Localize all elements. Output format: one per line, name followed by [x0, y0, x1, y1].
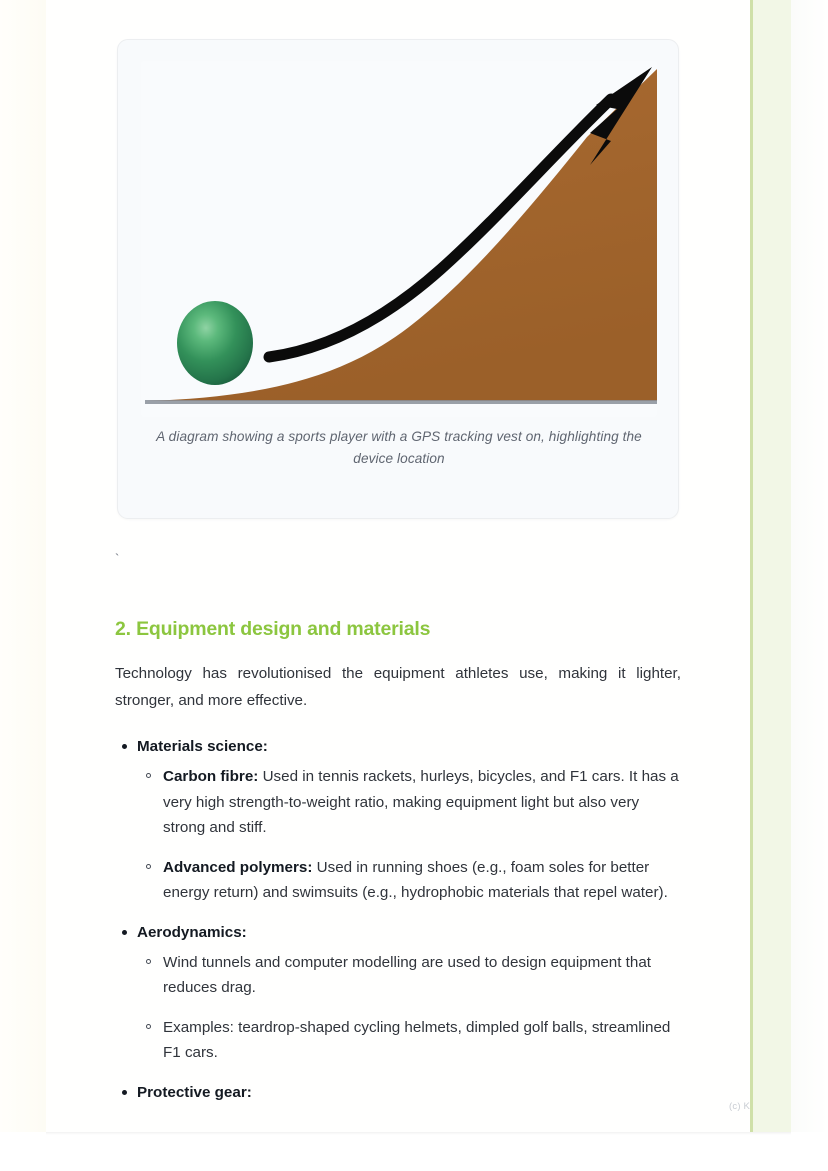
article-body: ` 2. Equipment design and materials Tech…: [115, 552, 681, 1110]
bullet-list-level2: Carbon fibre: Used in tennis rackets, hu…: [137, 764, 681, 906]
list-item: Materials science: Carbon fibre: Used in…: [137, 734, 681, 906]
bullet-text: Examples: teardrop-shaped cycling helmet…: [163, 1019, 670, 1062]
page-viewport: A diagram showing a sports player with a…: [0, 0, 828, 1171]
figure-caption: A diagram showing a sports player with a…: [146, 426, 652, 470]
stray-backtick-text: `: [115, 552, 681, 572]
list-item: Aerodynamics: Wind tunnels and computer …: [137, 920, 681, 1066]
bullet-list-level2: Wind tunnels and computer modelling are …: [137, 950, 681, 1066]
bullet-label: Aerodynamics:: [137, 924, 247, 941]
green-ball: [177, 301, 253, 385]
list-item: Advanced polymers: Used in running shoes…: [163, 855, 681, 906]
list-item: Examples: teardrop-shaped cycling helmet…: [163, 1015, 681, 1066]
list-item: Carbon fibre: Used in tennis rackets, hu…: [163, 764, 681, 841]
figure-image: [141, 61, 657, 417]
baseline: [145, 400, 657, 404]
document-sheet: A diagram showing a sports player with a…: [46, 0, 750, 1132]
right-fade: [791, 0, 828, 1132]
bullet-list-level1: Materials science: Carbon fibre: Used in…: [115, 734, 681, 1106]
bullet-label: Protective gear:: [137, 1084, 252, 1101]
intro-paragraph: Technology has revolutionised the equipm…: [115, 660, 681, 714]
page-bottom-shadow: [46, 1132, 791, 1135]
list-item: Wind tunnels and computer modelling are …: [163, 950, 681, 1001]
left-gutter: [0, 0, 46, 1132]
bullet-text: Wind tunnels and computer modelling are …: [163, 954, 651, 997]
bullet-label: Materials science:: [137, 738, 268, 755]
bullet-term: Advanced polymers:: [163, 859, 312, 876]
right-side-panel: [753, 0, 791, 1132]
list-item: Protective gear:: [137, 1080, 681, 1106]
figure-card: A diagram showing a sports player with a…: [117, 39, 679, 519]
ball-on-slope-diagram: [141, 61, 657, 417]
bullet-term: Carbon fibre:: [163, 768, 258, 785]
section-heading: 2. Equipment design and materials: [115, 616, 681, 642]
